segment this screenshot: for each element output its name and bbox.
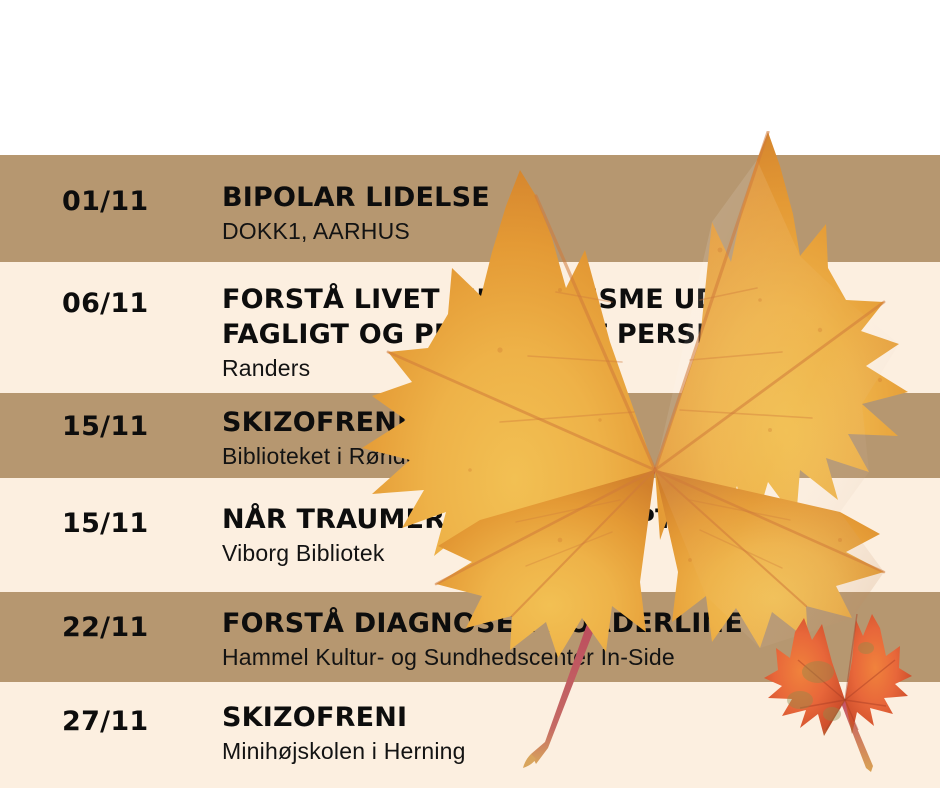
event-title: BIPOLAR LIDELSE <box>222 180 930 215</box>
event-title: SKIZOFRENI <box>222 405 930 440</box>
event-venue: Viborg Bibliotek <box>222 538 930 568</box>
event-title: NÅR TRAUMER MEDFØRER PTSD <box>222 502 930 537</box>
event-venue: Biblioteket i Rønde <box>222 441 930 471</box>
event-venue: Hammel Kultur- og Sundhedscenter In-Side <box>222 642 930 672</box>
event-row[interactable]: 15/11 SKIZOFRENI Biblioteket i Rønde <box>0 393 940 478</box>
event-info: NÅR TRAUMER MEDFØRER PTSD Viborg Bibliot… <box>222 502 930 568</box>
event-schedule-list: 01/11 BIPOLAR LIDELSE DOKK1, AARHUS 06/1… <box>0 155 940 788</box>
event-row[interactable]: 01/11 BIPOLAR LIDELSE DOKK1, AARHUS <box>0 155 940 262</box>
event-date: 22/11 <box>62 612 149 643</box>
event-info: SKIZOFRENI Minihøjskolen i Herning <box>222 700 930 766</box>
event-title: SKIZOFRENI <box>222 700 930 735</box>
event-title: FORSTÅ LIVET MED AUTISME UD FRA ET FAGLI… <box>222 282 930 352</box>
event-venue: Minihøjskolen i Herning <box>222 736 930 766</box>
event-title: FORSTÅ DIAGNOSEN BORDERLINE <box>222 606 930 641</box>
event-row[interactable]: 27/11 SKIZOFRENI Minihøjskolen i Herning <box>0 682 940 788</box>
event-info: FORSTÅ DIAGNOSEN BORDERLINE Hammel Kultu… <box>222 606 930 672</box>
event-info: FORSTÅ LIVET MED AUTISME UD FRA ET FAGLI… <box>222 282 930 383</box>
poster-canvas: 01/11 BIPOLAR LIDELSE DOKK1, AARHUS 06/1… <box>0 0 940 788</box>
event-venue: DOKK1, AARHUS <box>222 216 930 246</box>
event-date: 15/11 <box>62 411 149 442</box>
event-row[interactable]: 22/11 FORSTÅ DIAGNOSEN BORDERLINE Hammel… <box>0 592 940 682</box>
event-info: SKIZOFRENI Biblioteket i Rønde <box>222 405 930 471</box>
event-date: 06/11 <box>62 288 149 319</box>
event-date: 01/11 <box>62 186 149 217</box>
event-row[interactable]: 15/11 NÅR TRAUMER MEDFØRER PTSD Viborg B… <box>0 478 940 592</box>
event-date: 15/11 <box>62 508 149 539</box>
event-row[interactable]: 06/11 FORSTÅ LIVET MED AUTISME UD FRA ET… <box>0 262 940 393</box>
page-title: Temaaftener i november <box>48 28 940 110</box>
event-venue: Randers <box>222 353 930 383</box>
event-info: BIPOLAR LIDELSE DOKK1, AARHUS <box>222 180 930 246</box>
poster-header: Temaaftener i november <box>0 0 940 155</box>
event-date: 27/11 <box>62 706 149 737</box>
